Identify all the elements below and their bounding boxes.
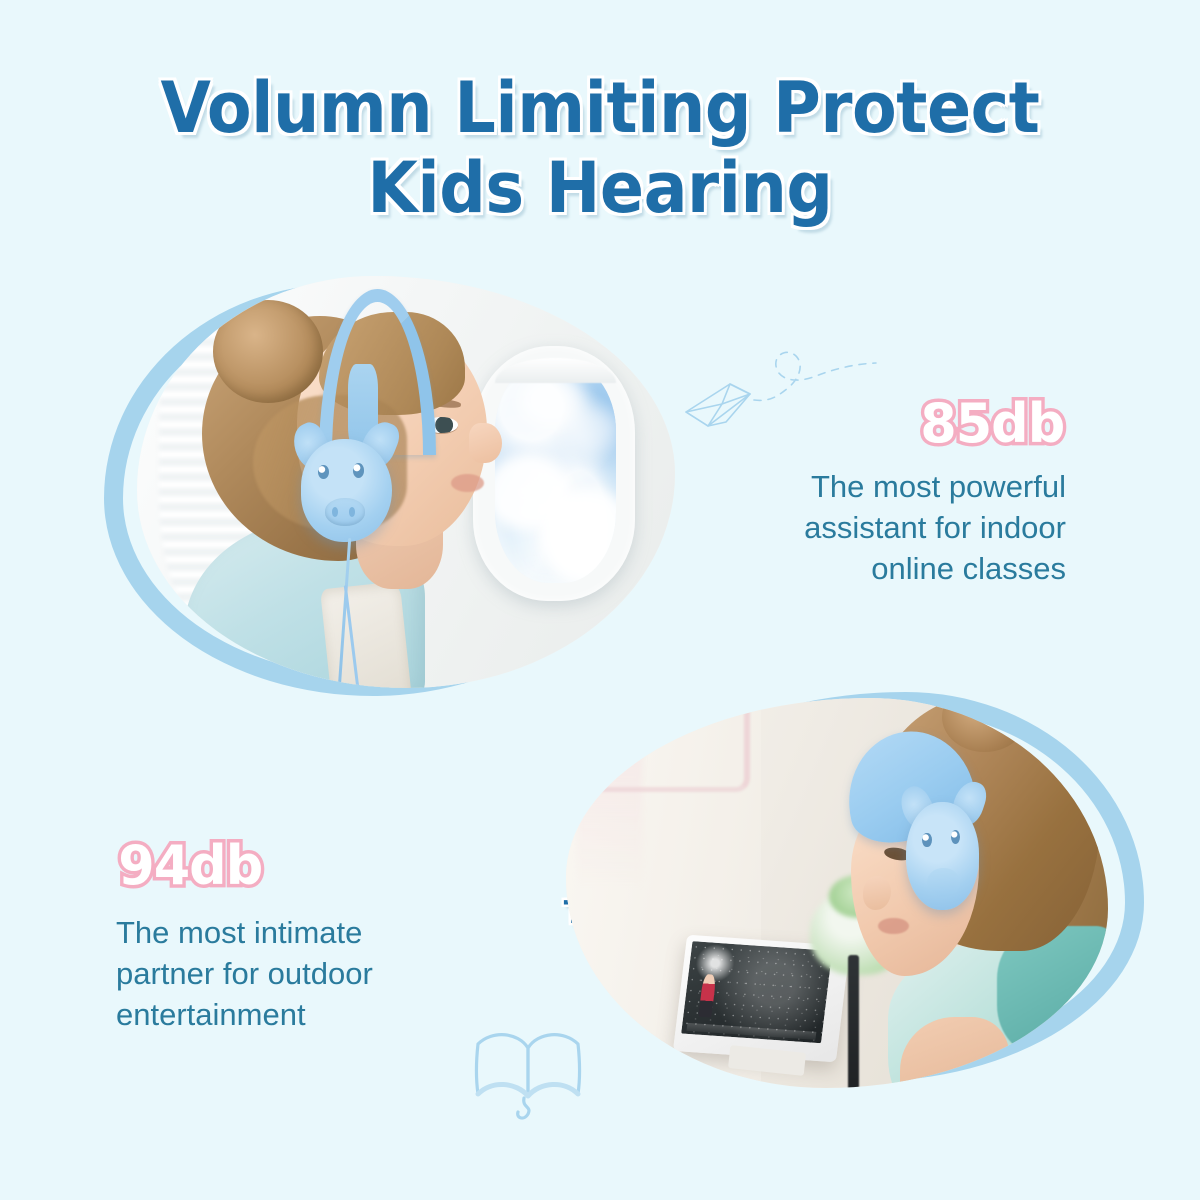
poster-canvas: Volumn Limiting Protect Kids Hearing [0, 0, 1200, 1200]
callout-value-94db: 94db [118, 834, 262, 897]
headline-line-1: Volumn Limiting Protect [161, 67, 1040, 149]
headphone-earcup [301, 439, 392, 542]
photo-travel [137, 276, 675, 688]
callout-text-94db: The most intimate partner for outdoor en… [116, 912, 456, 1035]
girl-travel [180, 292, 546, 688]
panel-study: Study [566, 692, 1144, 1092]
panel-travel: Travel [104, 276, 678, 708]
window-trim [588, 706, 751, 792]
page-title: Volumn Limiting Protect Kids Hearing [42, 68, 1158, 228]
photo-study [566, 698, 1108, 1088]
paper-plane-icon [678, 330, 878, 445]
headline-line-2: Kids Hearing [42, 148, 1158, 228]
girl-study [821, 698, 1108, 1088]
callout-value-85db: 85db [920, 392, 1064, 455]
tablet-screen [681, 941, 832, 1044]
callout-text-85db: The most powerful assistant for indoor o… [736, 466, 1066, 589]
open-book-icon [462, 1022, 594, 1131]
